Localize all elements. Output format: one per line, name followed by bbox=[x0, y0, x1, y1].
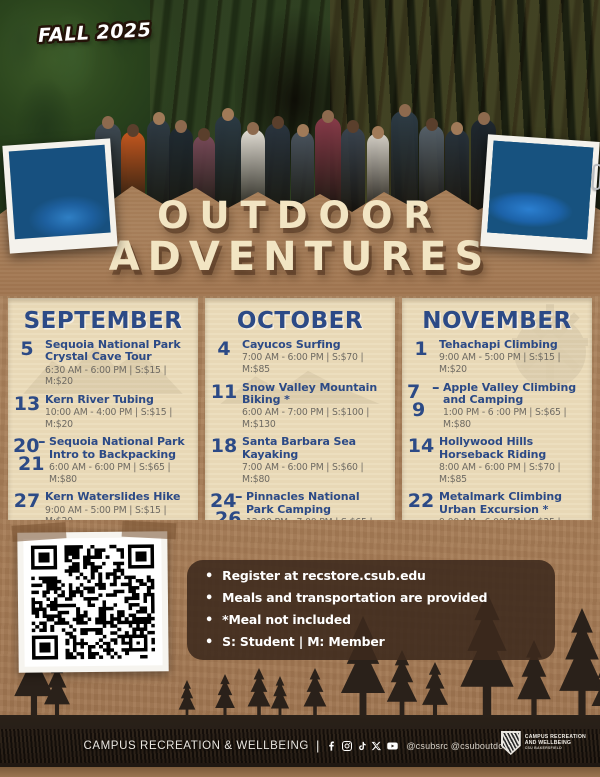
event-date: 2426– bbox=[209, 491, 243, 520]
pine-tree-icon bbox=[176, 680, 198, 720]
campus-rec-logo: CAMPUS RECREATION AND WELLBEING CSU BAKE… bbox=[501, 731, 586, 755]
event-date-single: 4 bbox=[209, 340, 239, 358]
person-head bbox=[347, 120, 359, 133]
event-row[interactable]: 4Cayucos Surfing7:00 AM - 6:00 PM | S:$7… bbox=[209, 339, 390, 376]
event-time-price: 12:00 PM - 7:00 PM | S:$65 | M:$80 bbox=[246, 517, 390, 520]
event-time-price: 9:00 AM - 5:00 PM | S:$15 | M:$20 bbox=[439, 352, 587, 375]
event-date-single: 13 bbox=[12, 395, 42, 413]
event-time-price: 10:00 AM - 4:00 PM | S:$15 | M:$20 bbox=[45, 407, 193, 430]
logo-line-3: CSU BAKERSFIELD bbox=[525, 747, 586, 751]
event-row[interactable]: 1Tehachapi Climbing9:00 AM - 5:00 PM | S… bbox=[406, 339, 587, 376]
shield-icon bbox=[501, 731, 521, 755]
event-details: Sequoia National Park Crystal Cave Tour6… bbox=[42, 339, 193, 388]
footer-separator: | bbox=[316, 738, 319, 753]
person-head bbox=[297, 124, 309, 137]
event-title: Cayucos Surfing bbox=[242, 339, 390, 351]
event-details: Metalmark Climbing Urban Excursion *9:00… bbox=[436, 491, 587, 520]
event-title: Hollywood Hills Horseback Riding bbox=[439, 436, 587, 461]
schedule-panels: SEPTEMBER5Sequoia National Park Crystal … bbox=[8, 298, 592, 520]
instagram-icon[interactable] bbox=[341, 740, 353, 752]
event-title: Snow Valley Mountain Biking * bbox=[242, 382, 390, 407]
event-title: Metalmark Climbing Urban Excursion * bbox=[439, 491, 587, 516]
bullet-icon: • bbox=[205, 570, 213, 583]
event-date: 13 bbox=[12, 394, 42, 413]
event-row[interactable]: 79–Apple Valley Climbing and Camping1:00… bbox=[406, 382, 587, 431]
event-title: Apple Valley Climbing and Camping bbox=[443, 382, 587, 407]
polaroid-photo-rafting bbox=[2, 138, 117, 253]
event-date: 18 bbox=[209, 436, 239, 455]
event-date: 14 bbox=[406, 436, 436, 455]
event-date-single: 22 bbox=[406, 492, 436, 510]
event-title: Tehachapi Climbing bbox=[439, 339, 587, 351]
tiktok-icon[interactable] bbox=[357, 740, 367, 752]
month-heading: NOVEMBER bbox=[402, 298, 592, 334]
event-date-end: 9 bbox=[407, 401, 440, 419]
bullet-icon: • bbox=[205, 592, 213, 605]
info-bullet-item: •*Meal not included bbox=[205, 614, 541, 627]
poster-root: FALL 2025 OUTDOOR ADVENTURES SEPTEMBER5S… bbox=[0, 0, 600, 777]
event-date: 5 bbox=[12, 339, 42, 358]
event-row[interactable]: 22Metalmark Climbing Urban Excursion *9:… bbox=[406, 491, 587, 520]
info-text: *Meal not included bbox=[222, 614, 351, 626]
person-head bbox=[222, 108, 234, 121]
pine-tree-icon bbox=[300, 668, 330, 720]
event-list: 4Cayucos Surfing7:00 AM - 6:00 PM | S:$7… bbox=[205, 334, 395, 520]
info-text: Meals and transportation are provided bbox=[222, 592, 487, 604]
qr-code-image[interactable] bbox=[23, 537, 162, 666]
event-date-single: 1 bbox=[406, 340, 436, 358]
event-details: Cayucos Surfing7:00 AM - 6:00 PM | S:$70… bbox=[239, 339, 390, 376]
person-head bbox=[102, 116, 114, 129]
event-row[interactable]: 13Kern River Tubing10:00 AM - 4:00 PM | … bbox=[12, 394, 193, 431]
event-date: 4 bbox=[209, 339, 239, 358]
qr-code-card[interactable] bbox=[17, 531, 168, 673]
event-title: Kern River Tubing bbox=[45, 394, 193, 406]
tubing-photo bbox=[487, 141, 593, 240]
event-time-price: 8:00 AM - 6:00 PM | S:$70 | M:$85 bbox=[439, 462, 587, 485]
month-panel-october: OCTOBER4Cayucos Surfing7:00 AM - 6:00 PM… bbox=[205, 298, 395, 520]
event-list: 1Tehachapi Climbing9:00 AM - 5:00 PM | S… bbox=[402, 334, 592, 520]
event-title: Kern Waterslides Hike bbox=[45, 491, 193, 503]
person-head bbox=[426, 118, 438, 131]
event-row[interactable]: 2021–Sequoia National Park Intro to Back… bbox=[12, 436, 193, 485]
rafting-photo bbox=[9, 145, 111, 239]
event-date-single: 27 bbox=[12, 492, 42, 510]
event-date: 11 bbox=[209, 382, 239, 401]
event-details: Pinnacles National Park Camping12:00 PM … bbox=[243, 491, 390, 520]
person-head bbox=[175, 120, 187, 133]
paper-clip-icon bbox=[591, 164, 600, 191]
x-twitter-icon[interactable] bbox=[371, 740, 382, 752]
pine-tree-icon bbox=[268, 676, 292, 720]
event-time-price: 6:00 AM - 6:00 PM | S:$65 | M:$80 bbox=[49, 462, 193, 485]
footer-org-name: CAMPUS RECREATION & WELLBEING bbox=[83, 740, 309, 752]
event-time-price: 7:00 AM - 6:00 PM | S:$70 | M:$85 bbox=[242, 352, 390, 375]
pine-tree-icon bbox=[418, 662, 452, 720]
event-details: Snow Valley Mountain Biking *6:00 AM - 7… bbox=[239, 382, 390, 431]
person-head bbox=[127, 124, 139, 137]
event-details: Kern River Tubing10:00 AM - 4:00 PM | S:… bbox=[42, 394, 193, 431]
event-time-price: 6:00 AM - 7:00 PM | S:$100 | M:$130 bbox=[242, 407, 390, 430]
event-details: Santa Barbara Sea Kayaking7:00 AM - 6:00… bbox=[239, 436, 390, 485]
person-head bbox=[153, 112, 165, 125]
event-row[interactable]: 5Sequoia National Park Crystal Cave Tour… bbox=[12, 339, 193, 388]
date-range-dash: – bbox=[235, 489, 243, 503]
person-head bbox=[272, 116, 284, 129]
info-bullet-item: •S: Student | M: Member bbox=[205, 636, 541, 649]
event-date: 27 bbox=[12, 491, 42, 510]
event-date-single: 11 bbox=[209, 383, 239, 401]
date-range-dash: – bbox=[432, 380, 440, 394]
bullet-icon: • bbox=[205, 636, 213, 649]
event-title: Santa Barbara Sea Kayaking bbox=[242, 436, 390, 461]
pine-tree-icon bbox=[212, 674, 238, 720]
pine-tree-icon bbox=[382, 650, 422, 720]
event-title: Sequoia National Park Crystal Cave Tour bbox=[45, 339, 193, 364]
event-time-price: 9:00 AM - 5:00 PM | S:$15 | M:$20 bbox=[45, 505, 193, 520]
person-head bbox=[478, 112, 490, 125]
event-row[interactable]: 2426–Pinnacles National Park Camping12:0… bbox=[209, 491, 390, 520]
info-text: Register at recstore.csub.edu bbox=[222, 570, 426, 582]
month-heading: SEPTEMBER bbox=[8, 298, 198, 334]
event-list: 5Sequoia National Park Crystal Cave Tour… bbox=[8, 334, 198, 520]
event-details: Kern Waterslides Hike9:00 AM - 5:00 PM |… bbox=[42, 491, 193, 520]
event-date: 2021– bbox=[12, 436, 46, 473]
polaroid-photo-tubing bbox=[480, 134, 600, 254]
event-date-single: 5 bbox=[12, 340, 42, 358]
event-date: 22 bbox=[406, 491, 436, 510]
month-heading: OCTOBER bbox=[205, 298, 395, 334]
info-notes-panel: •Register at recstore.csub.edu•Meals and… bbox=[187, 560, 555, 660]
person-head bbox=[372, 126, 384, 139]
month-panel-september: SEPTEMBER5Sequoia National Park Crystal … bbox=[8, 298, 198, 520]
info-bullet-item: •Register at recstore.csub.edu bbox=[205, 570, 541, 583]
event-date: 79– bbox=[406, 382, 440, 419]
date-range-dash: – bbox=[38, 434, 46, 448]
info-bullet-item: •Meals and transportation are provided bbox=[205, 592, 541, 605]
event-title: Pinnacles National Park Camping bbox=[246, 491, 390, 516]
event-date-single: 18 bbox=[209, 437, 239, 455]
event-row[interactable]: 18Santa Barbara Sea Kayaking7:00 AM - 6:… bbox=[209, 436, 390, 485]
event-row[interactable]: 11Snow Valley Mountain Biking *6:00 AM -… bbox=[209, 382, 390, 431]
person-head bbox=[322, 110, 334, 123]
month-panel-november: NOVEMBER1Tehachapi Climbing9:00 AM - 5:0… bbox=[402, 298, 592, 520]
info-text: S: Student | M: Member bbox=[222, 636, 384, 648]
event-date-end: 21 bbox=[13, 455, 46, 473]
person-head bbox=[451, 122, 463, 135]
event-date-single: 14 bbox=[406, 437, 436, 455]
event-time-price: 9:00 AM - 6:00 PM | S:$25 | M:$35 bbox=[439, 517, 587, 520]
person-head bbox=[399, 104, 411, 117]
event-details: Tehachapi Climbing9:00 AM - 5:00 PM | S:… bbox=[436, 339, 587, 376]
event-details: Apple Valley Climbing and Camping1:00 PM… bbox=[440, 382, 587, 431]
person-head bbox=[247, 122, 259, 135]
bullet-icon: • bbox=[205, 614, 213, 627]
event-time-price: 7:00 AM - 6:00 PM | S:$60 | M:$80 bbox=[242, 462, 390, 485]
event-row[interactable]: 14Hollywood Hills Horseback Riding8:00 A… bbox=[406, 436, 587, 485]
social-icons[interactable] bbox=[326, 740, 399, 752]
dirt-strip bbox=[0, 767, 600, 777]
facebook-icon[interactable] bbox=[326, 740, 337, 752]
event-details: Hollywood Hills Horseback Riding8:00 AM … bbox=[436, 436, 587, 485]
tape-strip-right bbox=[122, 521, 177, 540]
pine-tree-icon bbox=[552, 608, 600, 720]
person-head bbox=[198, 128, 210, 141]
event-date: 1 bbox=[406, 339, 436, 358]
event-title: Sequoia National Park Intro to Backpacki… bbox=[49, 436, 193, 461]
youtube-icon[interactable] bbox=[386, 740, 399, 752]
event-time-price: 6:30 AM - 6:00 PM | S:$15 | M:$20 bbox=[45, 365, 193, 388]
event-date-end: 26 bbox=[210, 510, 243, 520]
pine-tree-icon bbox=[244, 668, 274, 720]
event-details: Sequoia National Park Intro to Backpacki… bbox=[46, 436, 193, 485]
event-row[interactable]: 27Kern Waterslides Hike9:00 AM - 5:00 PM… bbox=[12, 491, 193, 520]
event-time-price: 1:00 PM - 6 :00 PM | S:$65 | M:$80 bbox=[443, 407, 587, 430]
